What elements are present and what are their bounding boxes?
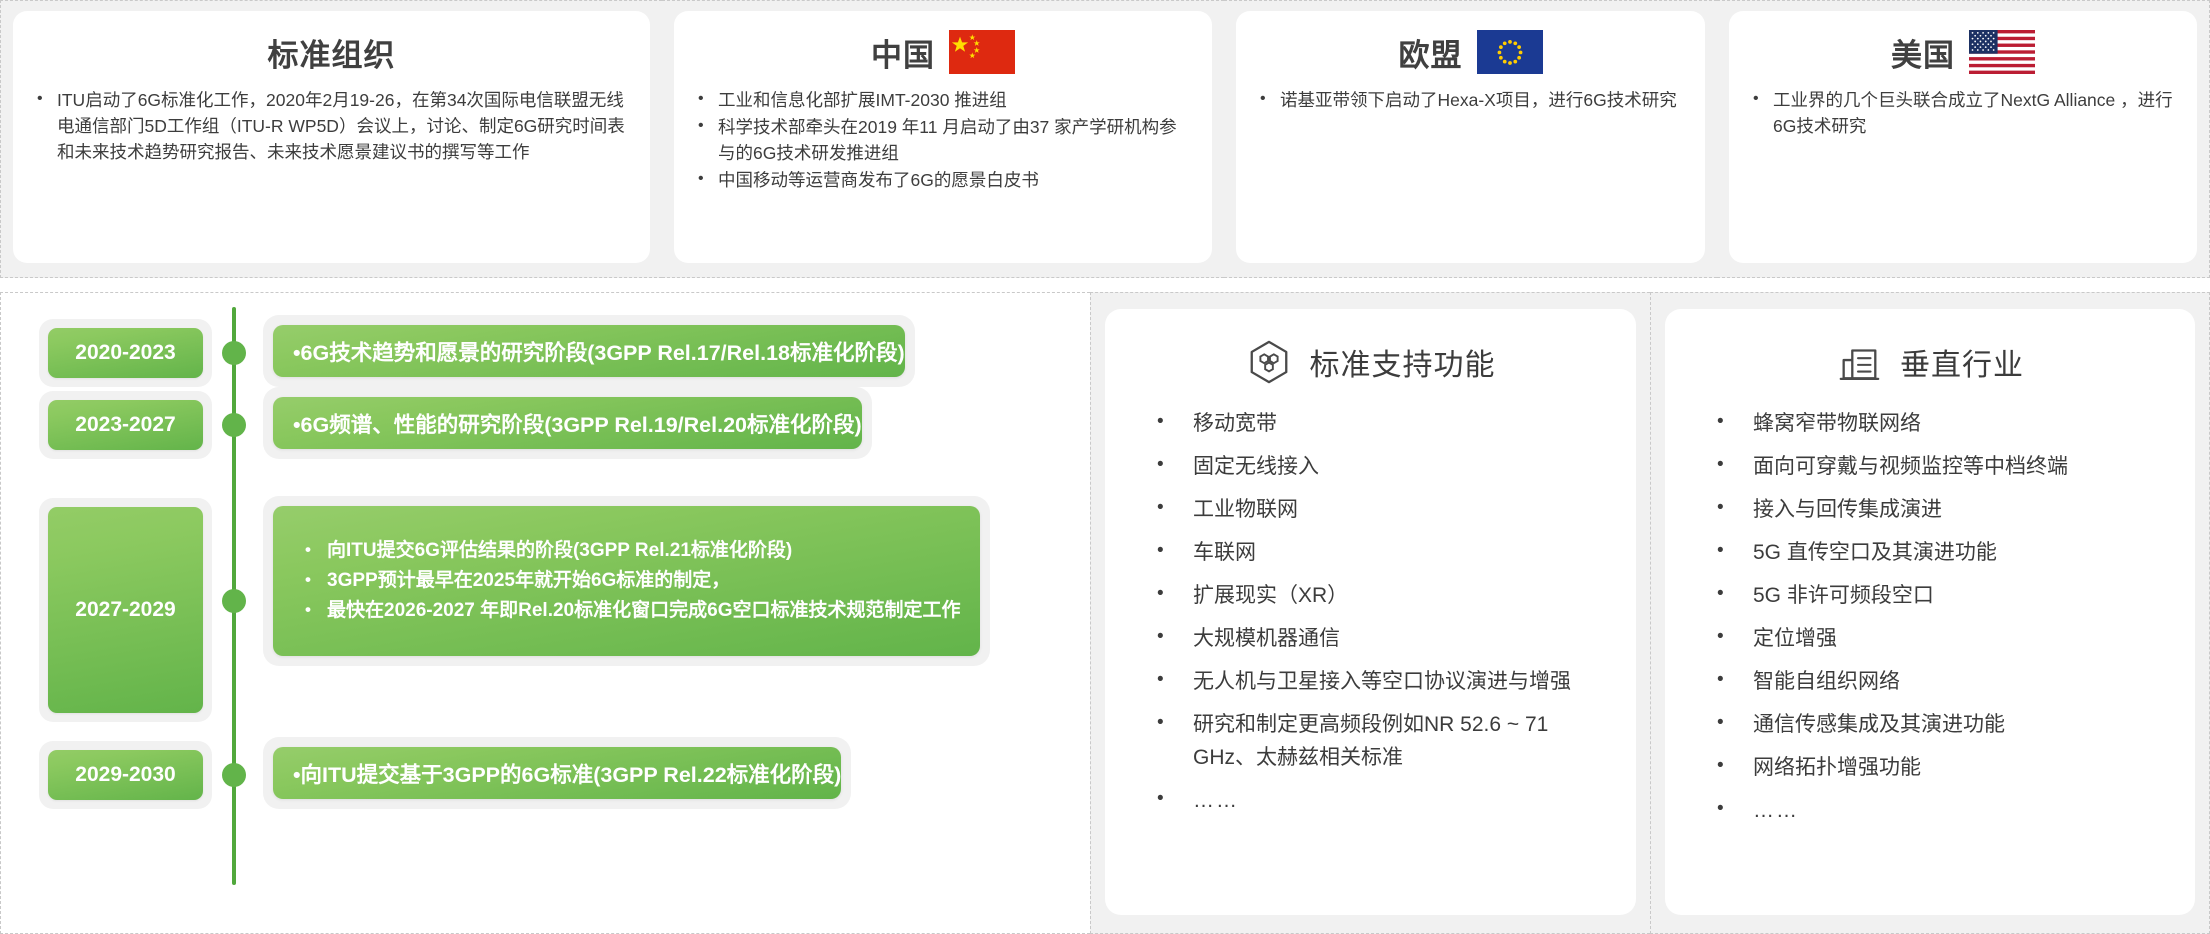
list-item: 向ITU提交6G评估结果的阶段(3GPP Rel.21标准化阶段) <box>301 536 960 566</box>
timeline-year-wrap-2: 2023-2027 <box>39 391 212 459</box>
region-title-china: 中国 <box>692 25 1194 79</box>
list-item: 网络拓扑增强功能 <box>1691 751 2169 784</box>
region-title-usa: 美国 <box>1747 25 2179 79</box>
timeline-bar-wrap-4: •向ITU提交基于3GPP的6G标准(3GPP Rel.22标准化阶段) <box>263 737 851 809</box>
timeline-year-chip[interactable]: 2029-2030 <box>48 750 203 800</box>
region-card-eu[interactable]: 欧盟 诺基亚带领下启动了Hexa-X项目， <box>1236 11 1705 263</box>
timeline-bar-label[interactable]: •6G频谱、性能的研究阶段(3GPP Rel.19/Rel.20标准化阶段) <box>273 397 862 449</box>
timeline-bar-label[interactable]: •向ITU提交基于3GPP的6G标准(3GPP Rel.22标准化阶段) <box>273 747 841 799</box>
region-shell-standards-org: 标准组织 ITU启动了6G标准化工作，2020年2月19-26，在第34次国际电… <box>0 0 662 278</box>
list-item: 蜂窝窄带物联网络 <box>1691 407 2169 440</box>
region-card-china[interactable]: 中国 工业和信息化部扩展IMT-2030 推进组 科 <box>674 11 1212 263</box>
timeline-year-wrap-1: 2020-2023 <box>39 319 212 387</box>
timeline-year-wrap-4: 2029-2030 <box>39 741 212 809</box>
list-item: 5G 直传空口及其演进功能 <box>1691 536 2169 569</box>
panel-vertical-industry[interactable]: 垂直行业 蜂窝窄带物联网络 面向可穿戴与视频监控等中档终端 接入与回传集成演进 … <box>1665 309 2195 915</box>
list-item: 科学技术部牵头在2019 年11 月启动了由37 家产学研机构参与的6G技术研发… <box>692 114 1194 166</box>
panel-header: 标准支持功能 <box>1131 331 1610 393</box>
list-item: 接入与回传集成演进 <box>1691 493 2169 526</box>
china-flag-icon <box>949 30 1015 74</box>
list-item: …… <box>1131 784 1610 817</box>
panel-title: 标准支持功能 <box>1310 340 1496 384</box>
timeline-bar-bullet-list: 向ITU提交6G评估结果的阶段(3GPP Rel.21标准化阶段) 3GPP预计… <box>301 536 960 626</box>
region-title-text: 中国 <box>871 30 935 75</box>
panel-item-list: 移动宽带 固定无线接入 工业物联网 车联网 扩展现实（XR） 大规模机器通信 无… <box>1131 407 1610 817</box>
timeline-bar-block[interactable]: 向ITU提交6G评估结果的阶段(3GPP Rel.21标准化阶段) 3GPP预计… <box>273 506 980 656</box>
list-item: …… <box>1691 794 2169 827</box>
region-shell-eu: 欧盟 诺基亚带领下启动了Hexa-X项目， <box>1224 0 1717 278</box>
list-item: 工业界的几个巨头联合成立了NextG Alliance ，进行6G技术研究 <box>1747 87 2179 139</box>
region-title-text: 美国 <box>1891 30 1955 75</box>
timeline-dot-3 <box>222 589 246 613</box>
timeline-dot-1 <box>222 341 246 365</box>
list-item: 研究和制定更高频段例如NR 52.6 ~ 71 GHz、太赫兹相关标准 <box>1131 708 1610 774</box>
region-title-eu: 欧盟 <box>1254 25 1687 79</box>
timeline-bar-wrap-3: 向ITU提交6G评估结果的阶段(3GPP Rel.21标准化阶段) 3GPP预计… <box>263 496 990 666</box>
region-title-standards-org: 标准组织 <box>31 25 632 79</box>
list-item: 车联网 <box>1131 536 1610 569</box>
region-bullet-list: 工业界的几个巨头联合成立了NextG Alliance ，进行6G技术研究 <box>1747 87 2179 139</box>
lower-area: 6G技术趋势和愿景的研究阶段 2020-2023 •6G技术趋势和愿景的研究阶段… <box>0 292 2210 934</box>
timeline-bar-wrap-1: •6G技术趋势和愿景的研究阶段(3GPP Rel.17/Rel.18标准化阶段) <box>263 315 915 387</box>
list-item: 无人机与卫星接入等空口协议演进与增强 <box>1131 665 1610 698</box>
list-item: 5G 非许可频段空口 <box>1691 579 2169 612</box>
panel-item-list: 蜂窝窄带物联网络 面向可穿戴与视频监控等中档终端 接入与回传集成演进 5G 直传… <box>1691 407 2169 827</box>
list-item: 扩展现实（XR） <box>1131 579 1610 612</box>
region-title-text: 标准组织 <box>268 30 396 75</box>
list-item: 智能自组织网络 <box>1691 665 2169 698</box>
list-item: 工业和信息化部扩展IMT-2030 推进组 <box>692 87 1194 113</box>
list-item: 移动宽带 <box>1131 407 1610 440</box>
timeline-year-chip[interactable]: 2023-2027 <box>48 400 203 450</box>
panel-shell-vertical-industry: 垂直行业 蜂窝窄带物联网络 面向可穿戴与视频监控等中档终端 接入与回传集成演进 … <box>1650 292 2210 934</box>
list-item: 面向可穿戴与视频监控等中档终端 <box>1691 450 2169 483</box>
region-cards-strip: 标准组织 ITU启动了6G标准化工作，2020年2月19-26，在第34次国际电… <box>0 0 2210 278</box>
eu-flag-icon <box>1477 30 1543 74</box>
timeline-dot-4 <box>222 763 246 787</box>
factory-building-icon <box>1836 339 1882 385</box>
timeline-dot-2 <box>222 413 246 437</box>
list-item: 最快在2026-2027 年即Rel.20标准化窗口完成6G空口标准技术规范制定… <box>301 596 960 626</box>
panel-standard-features[interactable]: 标准支持功能 移动宽带 固定无线接入 工业物联网 车联网 扩展现实（XR） 大规… <box>1105 309 1636 915</box>
timeline-bar-wrap-2: •6G频谱、性能的研究阶段(3GPP Rel.19/Rel.20标准化阶段) <box>263 387 872 459</box>
list-item: 诺基亚带领下启动了Hexa-X项目，进行6G技术研究 <box>1254 87 1687 113</box>
list-item: 工业物联网 <box>1131 493 1610 526</box>
honeycomb-hexagon-icon <box>1246 339 1292 385</box>
region-bullet-list: 工业和信息化部扩展IMT-2030 推进组 科学技术部牵头在2019 年11 月… <box>692 87 1194 193</box>
list-item: 固定无线接入 <box>1131 450 1610 483</box>
panel-shell-standard-features: 标准支持功能 移动宽带 固定无线接入 工业物联网 车联网 扩展现实（XR） 大规… <box>1090 292 1650 934</box>
region-title-text: 欧盟 <box>1399 30 1463 75</box>
region-card-usa[interactable]: 美国 <box>1729 11 2197 263</box>
slide-root: 标准组织 ITU启动了6G标准化工作，2020年2月19-26，在第34次国际电… <box>0 0 2210 934</box>
usa-flag-icon <box>1969 30 2035 74</box>
region-shell-china: 中国 工业和信息化部扩展IMT-2030 推进组 科 <box>662 0 1224 278</box>
timeline-year-chip[interactable]: 2020-2023 <box>48 328 203 378</box>
timeline-year-chip[interactable]: 2027-2029 <box>48 507 203 713</box>
region-shell-usa: 美国 <box>1717 0 2210 278</box>
panel-title: 垂直行业 <box>1900 340 2024 384</box>
list-item: 3GPP预计最早在2025年就开始6G标准的制定， <box>301 566 960 596</box>
list-item: ITU启动了6G标准化工作，2020年2月19-26，在第34次国际电信联盟无线… <box>31 87 632 165</box>
timeline-year-wrap-3: 2027-2029 <box>39 498 212 722</box>
panel-header: 垂直行业 <box>1691 331 2169 393</box>
region-bullet-list: 诺基亚带领下启动了Hexa-X项目，进行6G技术研究 <box>1254 87 1687 113</box>
list-item: 中国移动等运营商发布了6G的愿景白皮书 <box>692 167 1194 193</box>
list-item: 通信传感集成及其演进功能 <box>1691 708 2169 741</box>
timeline-panel: 6G技术趋势和愿景的研究阶段 2020-2023 •6G技术趋势和愿景的研究阶段… <box>0 292 1090 934</box>
list-item: 定位增强 <box>1691 622 2169 655</box>
region-card-standards-org[interactable]: 标准组织 ITU启动了6G标准化工作，2020年2月19-26，在第34次国际电… <box>13 11 650 263</box>
list-item: 大规模机器通信 <box>1131 622 1610 655</box>
timeline-bar-label[interactable]: •6G技术趋势和愿景的研究阶段(3GPP Rel.17/Rel.18标准化阶段) <box>273 325 905 377</box>
region-bullet-list: ITU启动了6G标准化工作，2020年2月19-26，在第34次国际电信联盟无线… <box>31 87 632 165</box>
